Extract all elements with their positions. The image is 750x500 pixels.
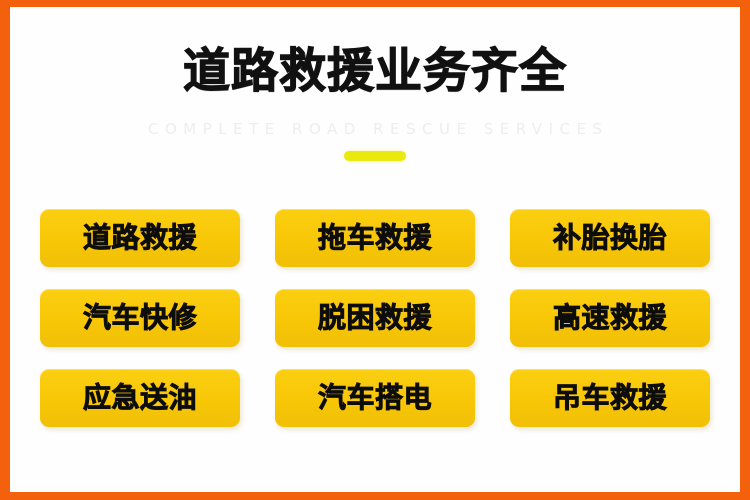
service-button-label: 应急送油	[83, 383, 197, 413]
poster-frame: 道路救援业务齐全 COMPLETE ROAD RESCUE SERVICES 道…	[0, 0, 750, 500]
service-button-road-rescue[interactable]: 道路救援	[40, 209, 240, 267]
service-button-label: 汽车搭电	[318, 383, 432, 413]
service-button-label: 高速救援	[553, 303, 667, 333]
service-grid: 道路救援 拖车救援 补胎换胎 汽车快修 脱困救援 高速救援 应急送油 汽车搭电	[40, 209, 710, 427]
page-title: 道路救援业务齐全	[10, 43, 740, 101]
divider-bar	[344, 151, 406, 161]
service-button-label: 吊车救援	[553, 383, 667, 413]
page-subtitle: COMPLETE ROAD RESCUE SERVICES	[10, 119, 740, 139]
service-button-highway-rescue[interactable]: 高速救援	[510, 289, 710, 347]
service-button-extrication-rescue[interactable]: 脱困救援	[275, 289, 475, 347]
service-button-towing-rescue[interactable]: 拖车救援	[275, 209, 475, 267]
service-button-crane-rescue[interactable]: 吊车救援	[510, 369, 710, 427]
service-button-tire-repair-replacement[interactable]: 补胎换胎	[510, 209, 710, 267]
service-button-emergency-fuel-delivery[interactable]: 应急送油	[40, 369, 240, 427]
service-button-quick-auto-repair[interactable]: 汽车快修	[40, 289, 240, 347]
service-button-jump-start[interactable]: 汽车搭电	[275, 369, 475, 427]
poster-canvas: 道路救援业务齐全 COMPLETE ROAD RESCUE SERVICES 道…	[10, 7, 740, 492]
service-button-label: 拖车救援	[318, 223, 432, 253]
service-button-label: 脱困救援	[318, 303, 432, 333]
service-button-label: 补胎换胎	[553, 223, 667, 253]
service-button-label: 汽车快修	[83, 303, 197, 333]
service-button-label: 道路救援	[83, 223, 197, 253]
